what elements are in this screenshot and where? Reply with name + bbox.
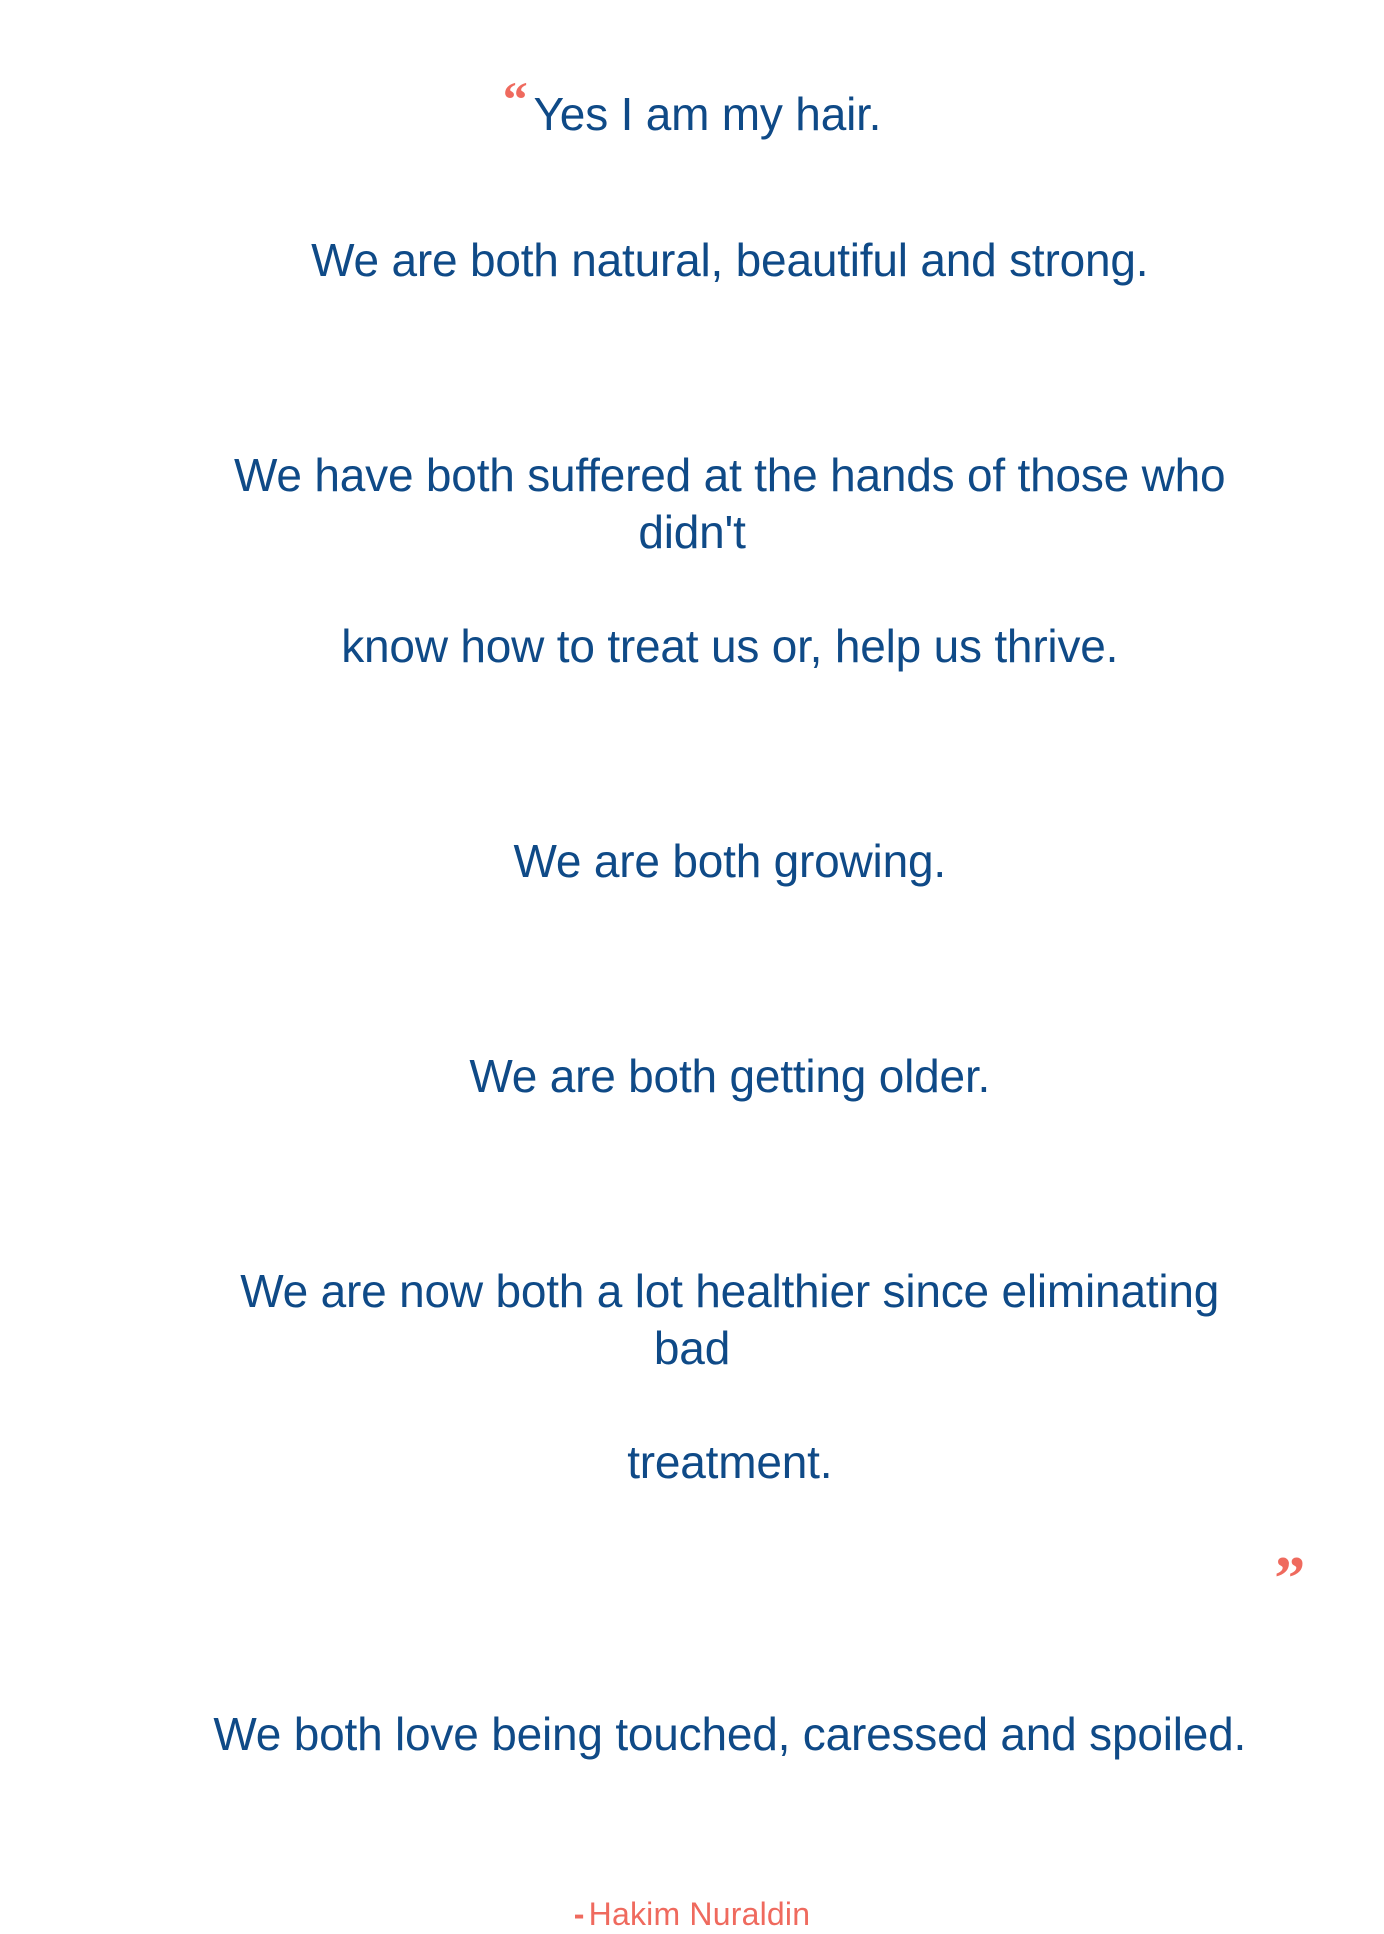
attribution-author: Hakim Nuraldin	[589, 1896, 811, 1932]
quote-card: “Yes I am my hair. We are both natural, …	[0, 0, 1384, 1100]
quote-line-text: know how to treat us or, help us thrive.	[341, 620, 1118, 672]
quote-line: We are both growing.	[127, 776, 1257, 947]
quote-line-text: We are both growing.	[514, 835, 946, 887]
quote-line-text: Yes I am my hair.	[534, 88, 882, 140]
close-quote-icon: ”	[1274, 1548, 1305, 1610]
quote-line-text: We have both suffered at the hands of th…	[234, 449, 1238, 558]
quote-line: We are now both a lot healthier since el…	[127, 1206, 1257, 1548]
quote-line-text: We both love being touched, caressed and…	[213, 1708, 1246, 1760]
quote-line: “Yes I am my hair.	[127, 86, 1257, 143]
quote-line-text: We are both natural, beautiful and stron…	[311, 234, 1148, 286]
quote-line-text: We are both getting older.	[469, 1050, 990, 1102]
quote-line: We are both natural, beautiful and stron…	[127, 175, 1257, 346]
quote-line: We have both suffered at the hands of th…	[127, 390, 1257, 732]
attribution-dash: -	[574, 1896, 585, 1932]
quote-line: We are both getting older.	[127, 991, 1257, 1162]
quote-line-final: ” We both love being touched, caressed a…	[127, 1592, 1257, 1820]
quote-attribution: -Hakim Nuraldin	[127, 1894, 1257, 1934]
quote-body: “Yes I am my hair. We are both natural, …	[127, 0, 1257, 1934]
quote-line-text: treatment.	[627, 1436, 832, 1488]
quote-line-text: We are now both a lot healthier since el…	[240, 1265, 1232, 1374]
